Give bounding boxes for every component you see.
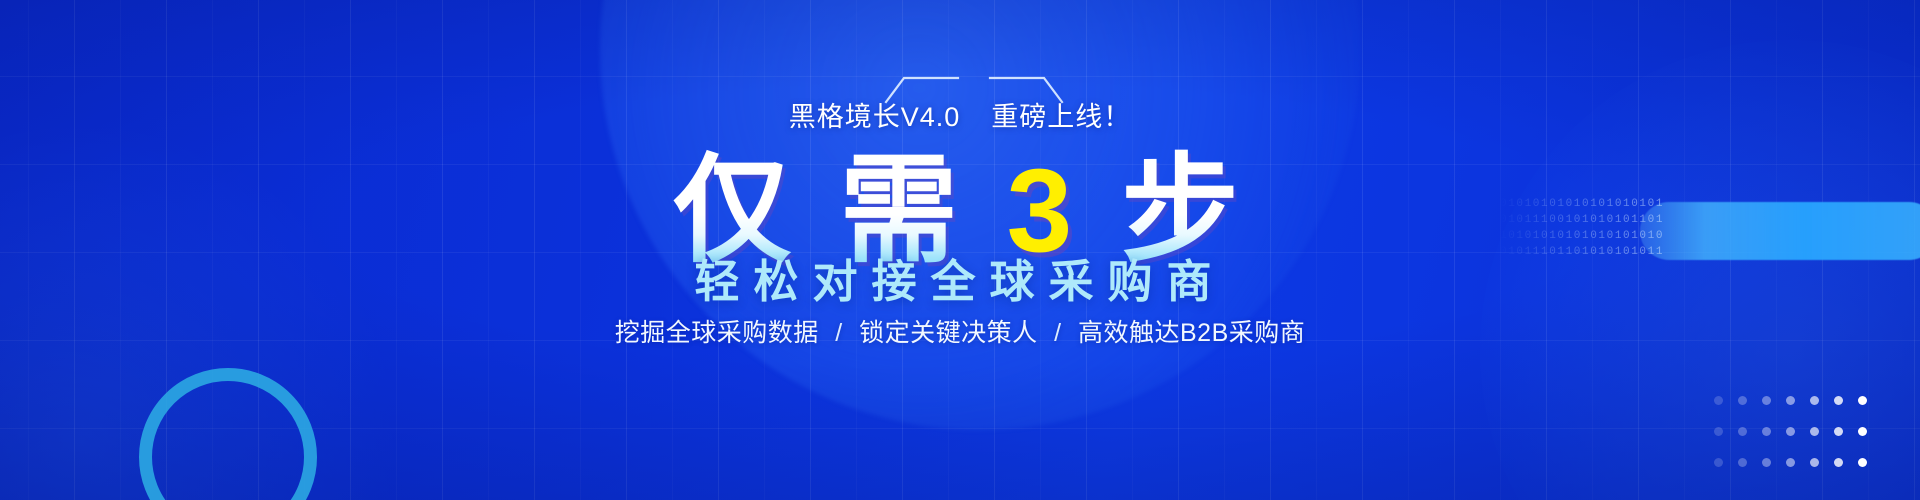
dot-grid-decoration xyxy=(1706,385,1874,478)
grid-dot-icon xyxy=(1786,458,1795,467)
grid-dot-icon xyxy=(1858,396,1867,405)
grid-dot-icon xyxy=(1810,396,1819,405)
grid-dot-icon xyxy=(1762,458,1771,467)
tagline-item-2: 锁定关键决策人 xyxy=(859,319,1038,347)
grid-dot-icon xyxy=(1834,458,1843,467)
grid-dot-icon xyxy=(1762,396,1771,405)
promo-banner: 01010101010101010101 0101110010101010110… xyxy=(0,0,1920,500)
grid-dot-icon xyxy=(1714,427,1723,436)
eyebrow-announcement: 重磅上线！ xyxy=(991,102,1131,132)
subtitle-text: 轻松对接全球采购商 xyxy=(0,245,1920,310)
grid-dot-icon xyxy=(1834,427,1843,436)
grid-dot-icon xyxy=(1786,427,1795,436)
grid-dot-icon xyxy=(1738,458,1747,467)
tagline-text: 挖掘全球采购数据 / 锁定关键决策人 / 高效触达B2B采购商 xyxy=(0,313,1920,349)
grid-dot-icon xyxy=(1762,427,1771,436)
grid-dot-icon xyxy=(1738,396,1747,405)
grid-dot-icon xyxy=(1786,396,1795,405)
eyebrow-text: 黑格境长V4.0 重磅上线！ xyxy=(0,95,1920,134)
grid-dot-icon xyxy=(1834,396,1843,405)
grid-dot-icon xyxy=(1810,458,1819,467)
grid-dot-icon xyxy=(1858,427,1867,436)
tagline-separator: / xyxy=(826,319,851,348)
grid-dot-icon xyxy=(1738,427,1747,436)
grid-dot-icon xyxy=(1714,396,1723,405)
tagline-item-1: 挖掘全球采购数据 xyxy=(615,319,819,347)
tagline-item-3: 高效触达B2B采购商 xyxy=(1078,319,1305,347)
grid-dot-icon xyxy=(1714,458,1723,467)
eyebrow-product: 黑格境长V4.0 xyxy=(789,102,961,132)
tagline-separator: / xyxy=(1045,319,1070,348)
grid-dot-icon xyxy=(1858,458,1867,467)
grid-dot-icon xyxy=(1810,427,1819,436)
